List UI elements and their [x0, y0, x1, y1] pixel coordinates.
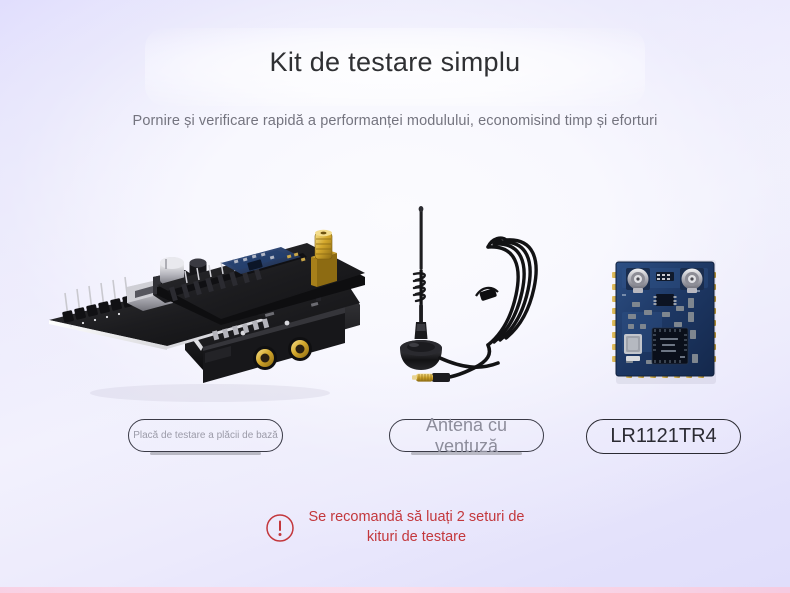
- product-label-board[interactable]: Placă de testare a plăcii de bază: [128, 419, 283, 452]
- bottom-accent-strip: [0, 587, 790, 593]
- recommendation-warning: Se recomandă să luați 2 seturi de kituri…: [0, 508, 790, 547]
- development-test-board-image: [35, 225, 365, 405]
- lr1121-rf-module-image: [604, 250, 726, 390]
- product-label-module-text: LR1121TR4: [610, 425, 716, 447]
- page-title: Kit de testare simplu: [0, 47, 790, 78]
- page-subtitle: Pornire și verificare rapidă a performan…: [0, 113, 790, 129]
- product-label-antenna-text: Antena cu ventuză: [426, 415, 507, 455]
- recommendation-warning-text: Se recomandă să luați 2 seturi de kituri…: [308, 508, 524, 547]
- pill-shadow: [150, 452, 260, 455]
- suction-cup-antenna-image: [388, 198, 553, 398]
- exclamation-circle-icon: [265, 513, 295, 543]
- product-kit-banner: Kit de testare simplu Pornire și verific…: [0, 0, 790, 593]
- product-label-module[interactable]: LR1121TR4: [586, 419, 741, 454]
- product-label-antenna[interactable]: Antena cu ventuză: [389, 419, 544, 452]
- product-label-board-text: Placă de testare a plăcii de bază: [133, 430, 278, 441]
